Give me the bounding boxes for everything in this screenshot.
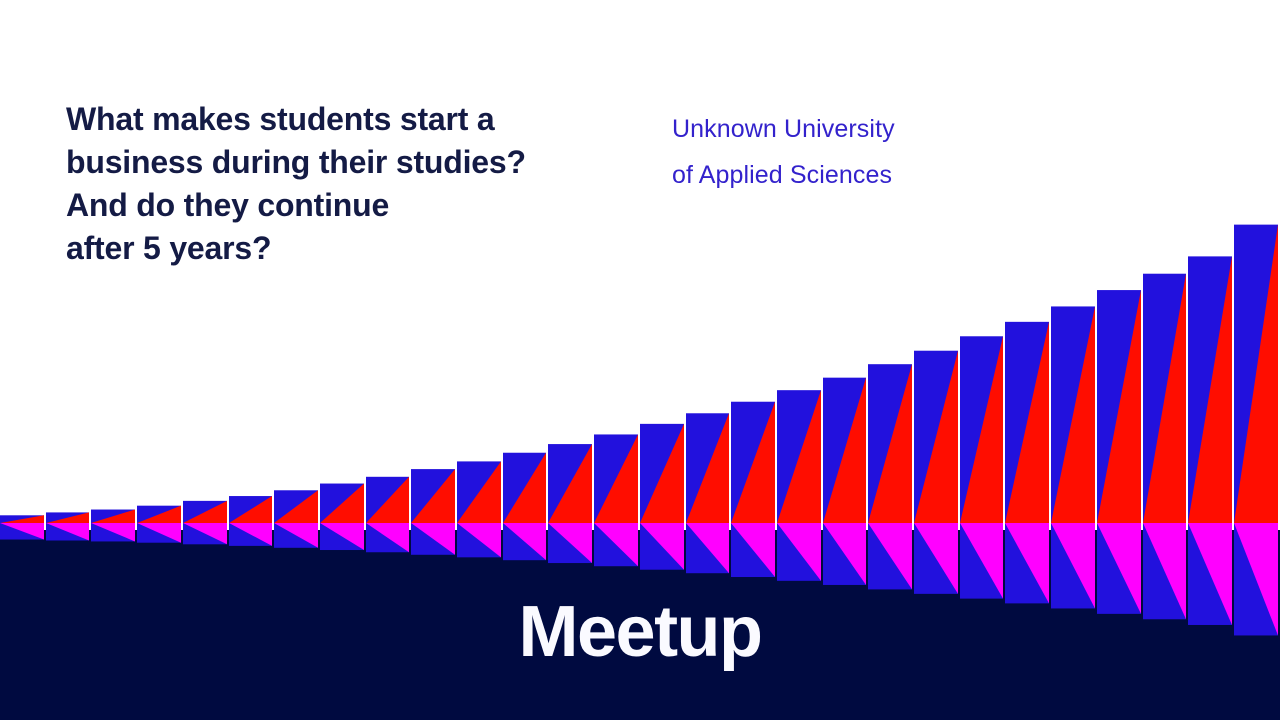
university-line-1: Unknown University [672, 106, 1002, 152]
headline-line-2: business during their studies? [66, 141, 626, 184]
meetup-wordmark: Meetup [0, 592, 1280, 672]
university-line-2: of Applied Sciences [672, 152, 1002, 198]
headline: What makes students start a business dur… [66, 98, 626, 270]
presentation-slide: What makes students start a business dur… [0, 0, 1280, 720]
university-name: Unknown University of Applied Sciences [672, 106, 1002, 198]
headline-line-4: after 5 years? [66, 227, 626, 270]
headline-line-1: What makes students start a [66, 98, 626, 141]
headline-line-3: And do they continue [66, 184, 626, 227]
